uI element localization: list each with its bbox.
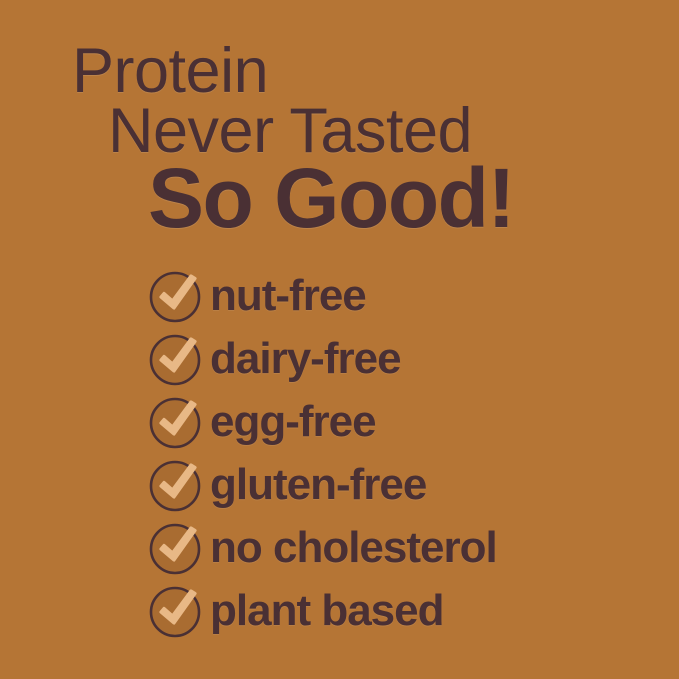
list-item: no cholesterol (148, 516, 668, 579)
list-item: dairy-free (148, 327, 668, 390)
list-item-label: dairy-free (210, 337, 401, 381)
check-circle-icon (148, 331, 204, 387)
check-circle-icon (148, 583, 204, 639)
headline-line-3: So Good! (148, 156, 514, 240)
check-circle-icon (148, 520, 204, 576)
check-circle-icon (148, 268, 204, 324)
list-item: nut-free (148, 264, 668, 327)
list-item-label: egg-free (210, 400, 376, 444)
list-item-label: nut-free (210, 274, 366, 318)
benefits-checklist: nut-free dairy-free egg-free (148, 264, 668, 642)
list-item: gluten-free (148, 453, 668, 516)
list-item-label: no cholesterol (210, 526, 497, 570)
headline-line-1: Protein (72, 40, 268, 103)
list-item-label: plant based (210, 589, 444, 633)
list-item: plant based (148, 579, 668, 642)
list-item: egg-free (148, 390, 668, 453)
promo-poster: Protein Never Tasted So Good! nut-free d… (0, 0, 679, 679)
check-circle-icon (148, 394, 204, 450)
list-item-label: gluten-free (210, 463, 426, 507)
check-circle-icon (148, 457, 204, 513)
